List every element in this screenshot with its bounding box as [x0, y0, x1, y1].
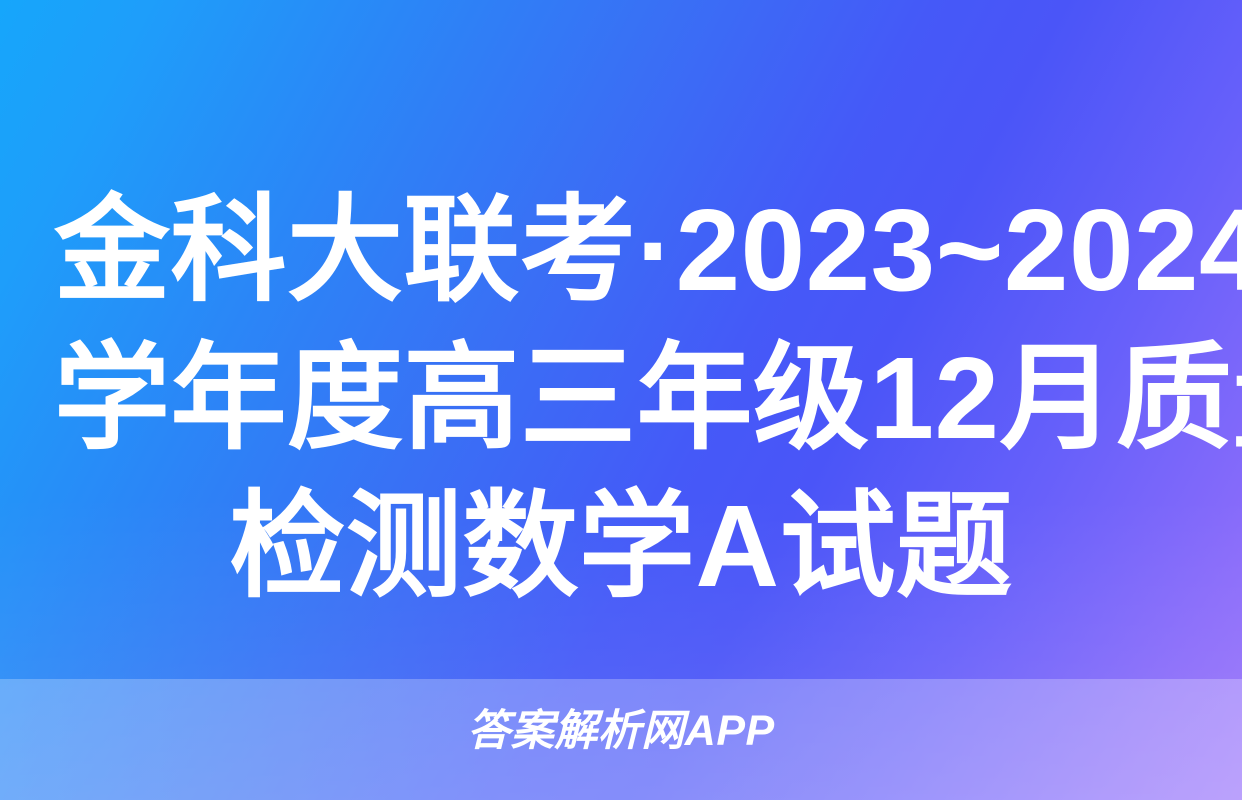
watermark: 答案解析网APP	[0, 703, 1242, 759]
title-line-3: 检测数学A试题	[54, 472, 1188, 620]
title-line-2: 学年度高三年级12月质量	[54, 324, 1188, 472]
watermark-label: 答案解析网APP	[467, 703, 774, 759]
page-title: 金科大联考·2023~2024 学年度高三年级12月质量 检测数学A试题	[0, 176, 1242, 620]
title-line-1: 金科大联考·2023~2024	[54, 176, 1188, 324]
cover-card: 金科大联考·2023~2024 学年度高三年级12月质量 检测数学A试题 答案解…	[0, 0, 1242, 800]
